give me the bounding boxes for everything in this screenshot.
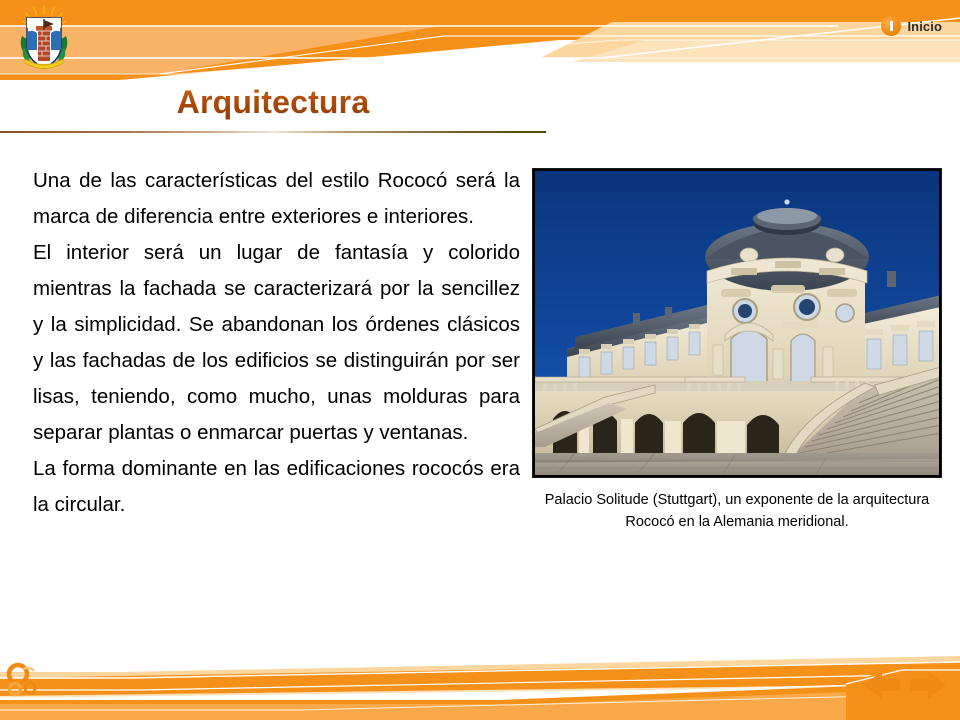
crest-icon (16, 2, 72, 72)
slide-footer (0, 638, 960, 720)
home-button-label: Inicio (907, 20, 942, 33)
paragraph-3: La forma dominante en las edificaciones … (33, 451, 520, 523)
title-underline-rule (0, 131, 546, 133)
paragraph-1: Una de las características del estilo Ro… (33, 163, 520, 235)
page-title: Arquitectura (0, 86, 546, 120)
arrow-right-icon (910, 671, 946, 699)
slide-canvas: Inicio Arquitectura Una de las caracterí… (0, 0, 960, 720)
home-button[interactable]: Inicio (881, 14, 942, 38)
figure-caption: Palacio Solitude (Stuttgart), un exponen… (532, 489, 942, 533)
figure-image-frame (532, 168, 942, 478)
header-decorative-bands (0, 0, 960, 80)
slide-navigation[interactable] (862, 668, 948, 702)
slide-header: Inicio (0, 0, 960, 80)
paragraph-2: El interior será un lugar de fantasía y … (33, 235, 520, 451)
arrow-left-icon (864, 671, 900, 699)
palace-photo (535, 171, 939, 475)
home-circle-icon (881, 16, 901, 36)
body-text: Una de las características del estilo Ro… (33, 163, 520, 523)
palace-illustration (535, 171, 939, 475)
footer-logo-icon (4, 662, 48, 702)
footer-decorative-bands (0, 638, 960, 720)
